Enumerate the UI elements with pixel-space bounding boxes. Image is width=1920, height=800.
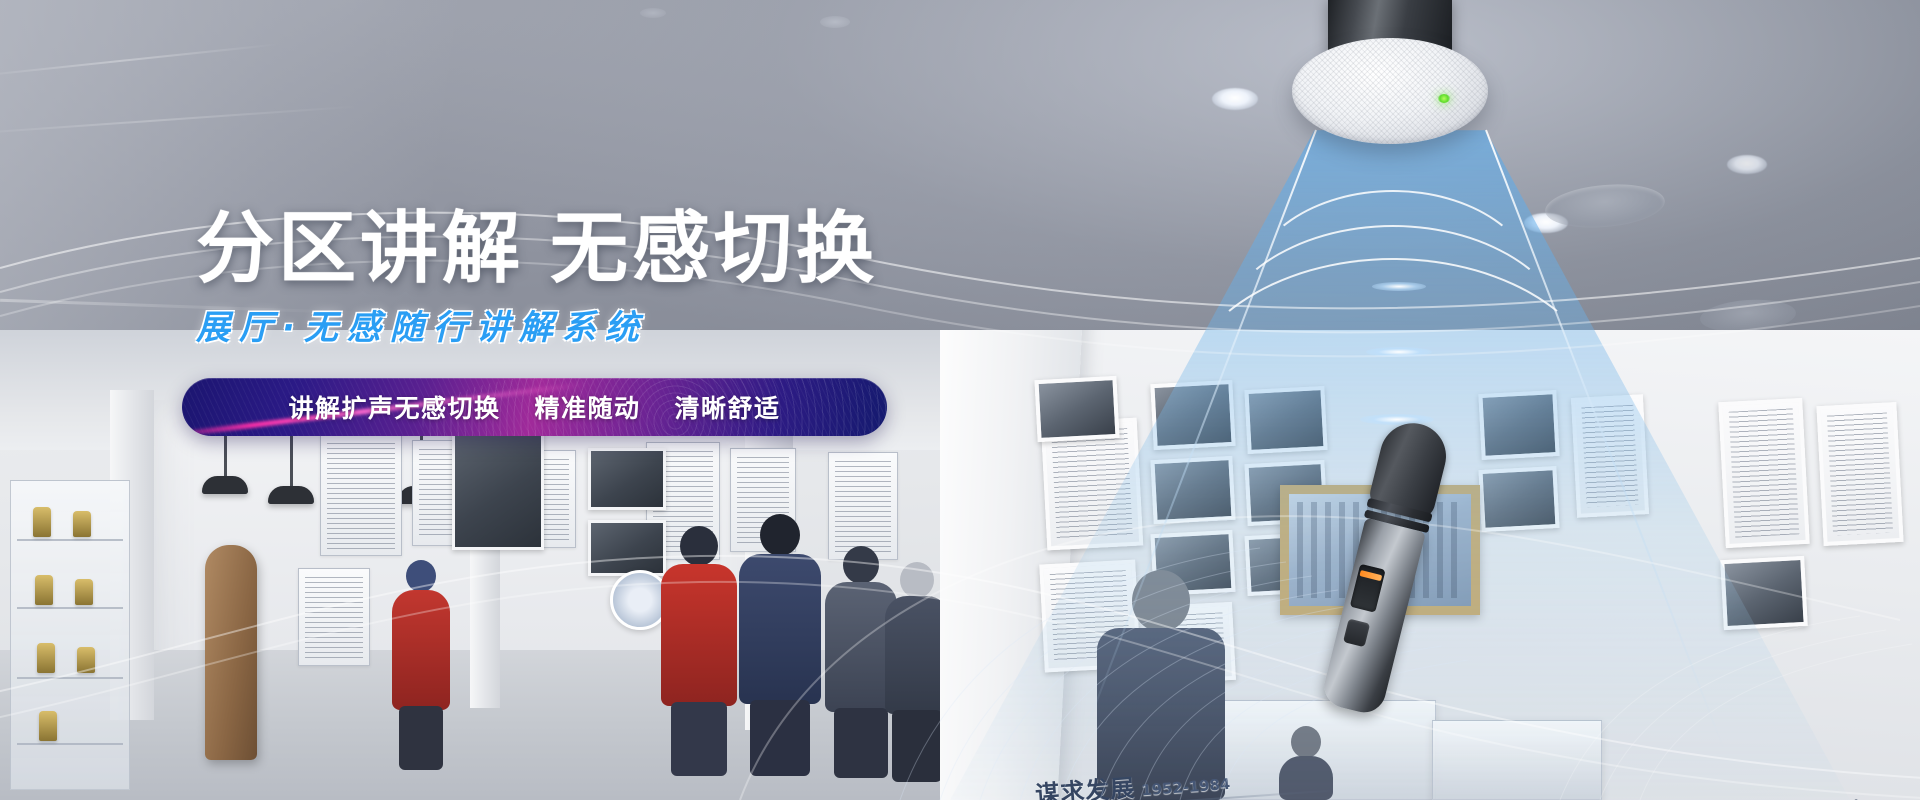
sound-wave-highlight (1372, 282, 1426, 291)
framed-portrait (452, 426, 544, 550)
terracotta-statue (205, 545, 257, 760)
wall-text-panel (1816, 402, 1903, 546)
feature-item-2: 精准随动 (534, 389, 640, 425)
sound-wave-highlight (1366, 347, 1432, 357)
framed-photo (588, 448, 666, 510)
framed-photo (588, 520, 666, 576)
exhibit-panel (298, 568, 370, 666)
trophy-display-case (10, 480, 130, 790)
ceiling-sprinkler-icon (640, 8, 666, 18)
ceiling-downlight-icon (1212, 88, 1258, 110)
exhibit-panel (320, 434, 402, 556)
feature-item-1: 讲解扩声无感切换 (288, 389, 500, 425)
speaker-status-led-icon (1438, 94, 1450, 103)
ceiling-speaker (1292, 0, 1488, 166)
visitor-figure (884, 562, 940, 782)
banner-copy: 分区讲解无感切换 展厅·无感随行讲解系统 (196, 210, 1156, 349)
exhibit-panel (828, 452, 898, 560)
wall-photo (1034, 376, 1119, 442)
banner-headline: 分区讲解无感切换 (196, 210, 1156, 290)
ceiling-downlight-icon (1727, 155, 1767, 174)
visitor-figure (660, 526, 738, 776)
headline-part-1: 分区讲解 (196, 204, 524, 294)
feature-pill: 讲解扩声无感切换 精准随动 清晰舒适 (182, 378, 887, 436)
feature-pill-items: 讲解扩声无感切换 精准随动 清晰舒适 (182, 378, 887, 436)
visitor-figure (738, 514, 822, 776)
ceiling-sprinkler-icon (820, 16, 850, 28)
headline-part-2: 无感切换 (550, 204, 878, 294)
banner-subtitle: 展厅·无感随行讲解系统 (196, 300, 1156, 349)
wall-text-panel (1718, 398, 1810, 548)
speaker-grille (1292, 38, 1488, 144)
visitor-figure (390, 560, 452, 770)
promo-banner: 谋求发展1952-1984 改革转型1984-2010 (0, 0, 1920, 800)
feature-item-3: 清晰舒适 (675, 389, 781, 425)
